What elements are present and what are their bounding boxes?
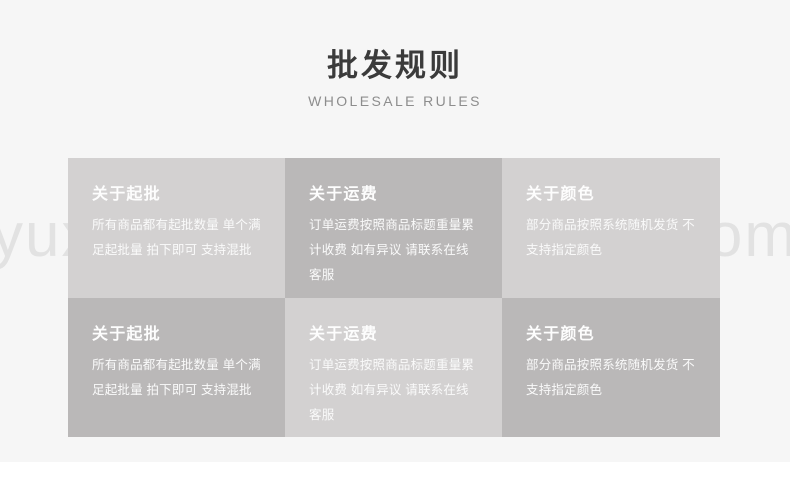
rule-card-1: 关于起批 所有商品都有起批数量 单个满足起批量 拍下即可 支持混批 <box>68 158 285 298</box>
rules-grid: 关于起批 所有商品都有起批数量 单个满足起批量 拍下即可 支持混批 关于运费 订… <box>68 158 720 437</box>
rule-card-6: 关于颜色 部分商品按照系统随机发货 不支持指定颜色 <box>502 298 720 437</box>
rule-card-4-title: 关于起批 <box>92 325 261 344</box>
rule-card-6-body: 部分商品按照系统随机发货 不支持指定颜色 <box>526 344 696 403</box>
rule-card-3: 关于颜色 部分商品按照系统随机发货 不支持指定颜色 <box>502 158 720 298</box>
rule-card-4: 关于起批 所有商品都有起批数量 单个满足起批量 拍下即可 支持混批 <box>68 298 285 437</box>
rule-card-1-body: 所有商品都有起批数量 单个满足起批量 拍下即可 支持混批 <box>92 204 261 263</box>
rule-card-5-title: 关于运费 <box>309 325 478 344</box>
rule-card-2-title: 关于运费 <box>309 185 478 204</box>
page-header: 批发规则 WHOLESALE RULES <box>0 0 790 109</box>
rule-card-2-body: 订单运费按照商品标题重量累计收费 如有异议 请联系在线客服 <box>309 204 478 288</box>
rule-card-5-body: 订单运费按照商品标题重量累计收费 如有异议 请联系在线客服 <box>309 344 478 428</box>
rule-card-4-body: 所有商品都有起批数量 单个满足起批量 拍下即可 支持混批 <box>92 344 261 403</box>
rule-card-6-title: 关于颜色 <box>526 325 696 344</box>
rule-card-5: 关于运费 订单运费按照商品标题重量累计收费 如有异议 请联系在线客服 <box>285 298 502 437</box>
rule-card-1-title: 关于起批 <box>92 185 261 204</box>
page-canvas: yux ugo.com 批发规则 WHOLESALE RULES 关于起批 所有… <box>0 0 790 462</box>
rule-card-3-title: 关于颜色 <box>526 185 696 204</box>
page-subtitle: WHOLESALE RULES <box>0 84 790 109</box>
rule-card-2: 关于运费 订单运费按照商品标题重量累计收费 如有异议 请联系在线客服 <box>285 158 502 298</box>
rule-card-3-body: 部分商品按照系统随机发货 不支持指定颜色 <box>526 204 696 263</box>
page-title: 批发规则 <box>0 0 790 84</box>
